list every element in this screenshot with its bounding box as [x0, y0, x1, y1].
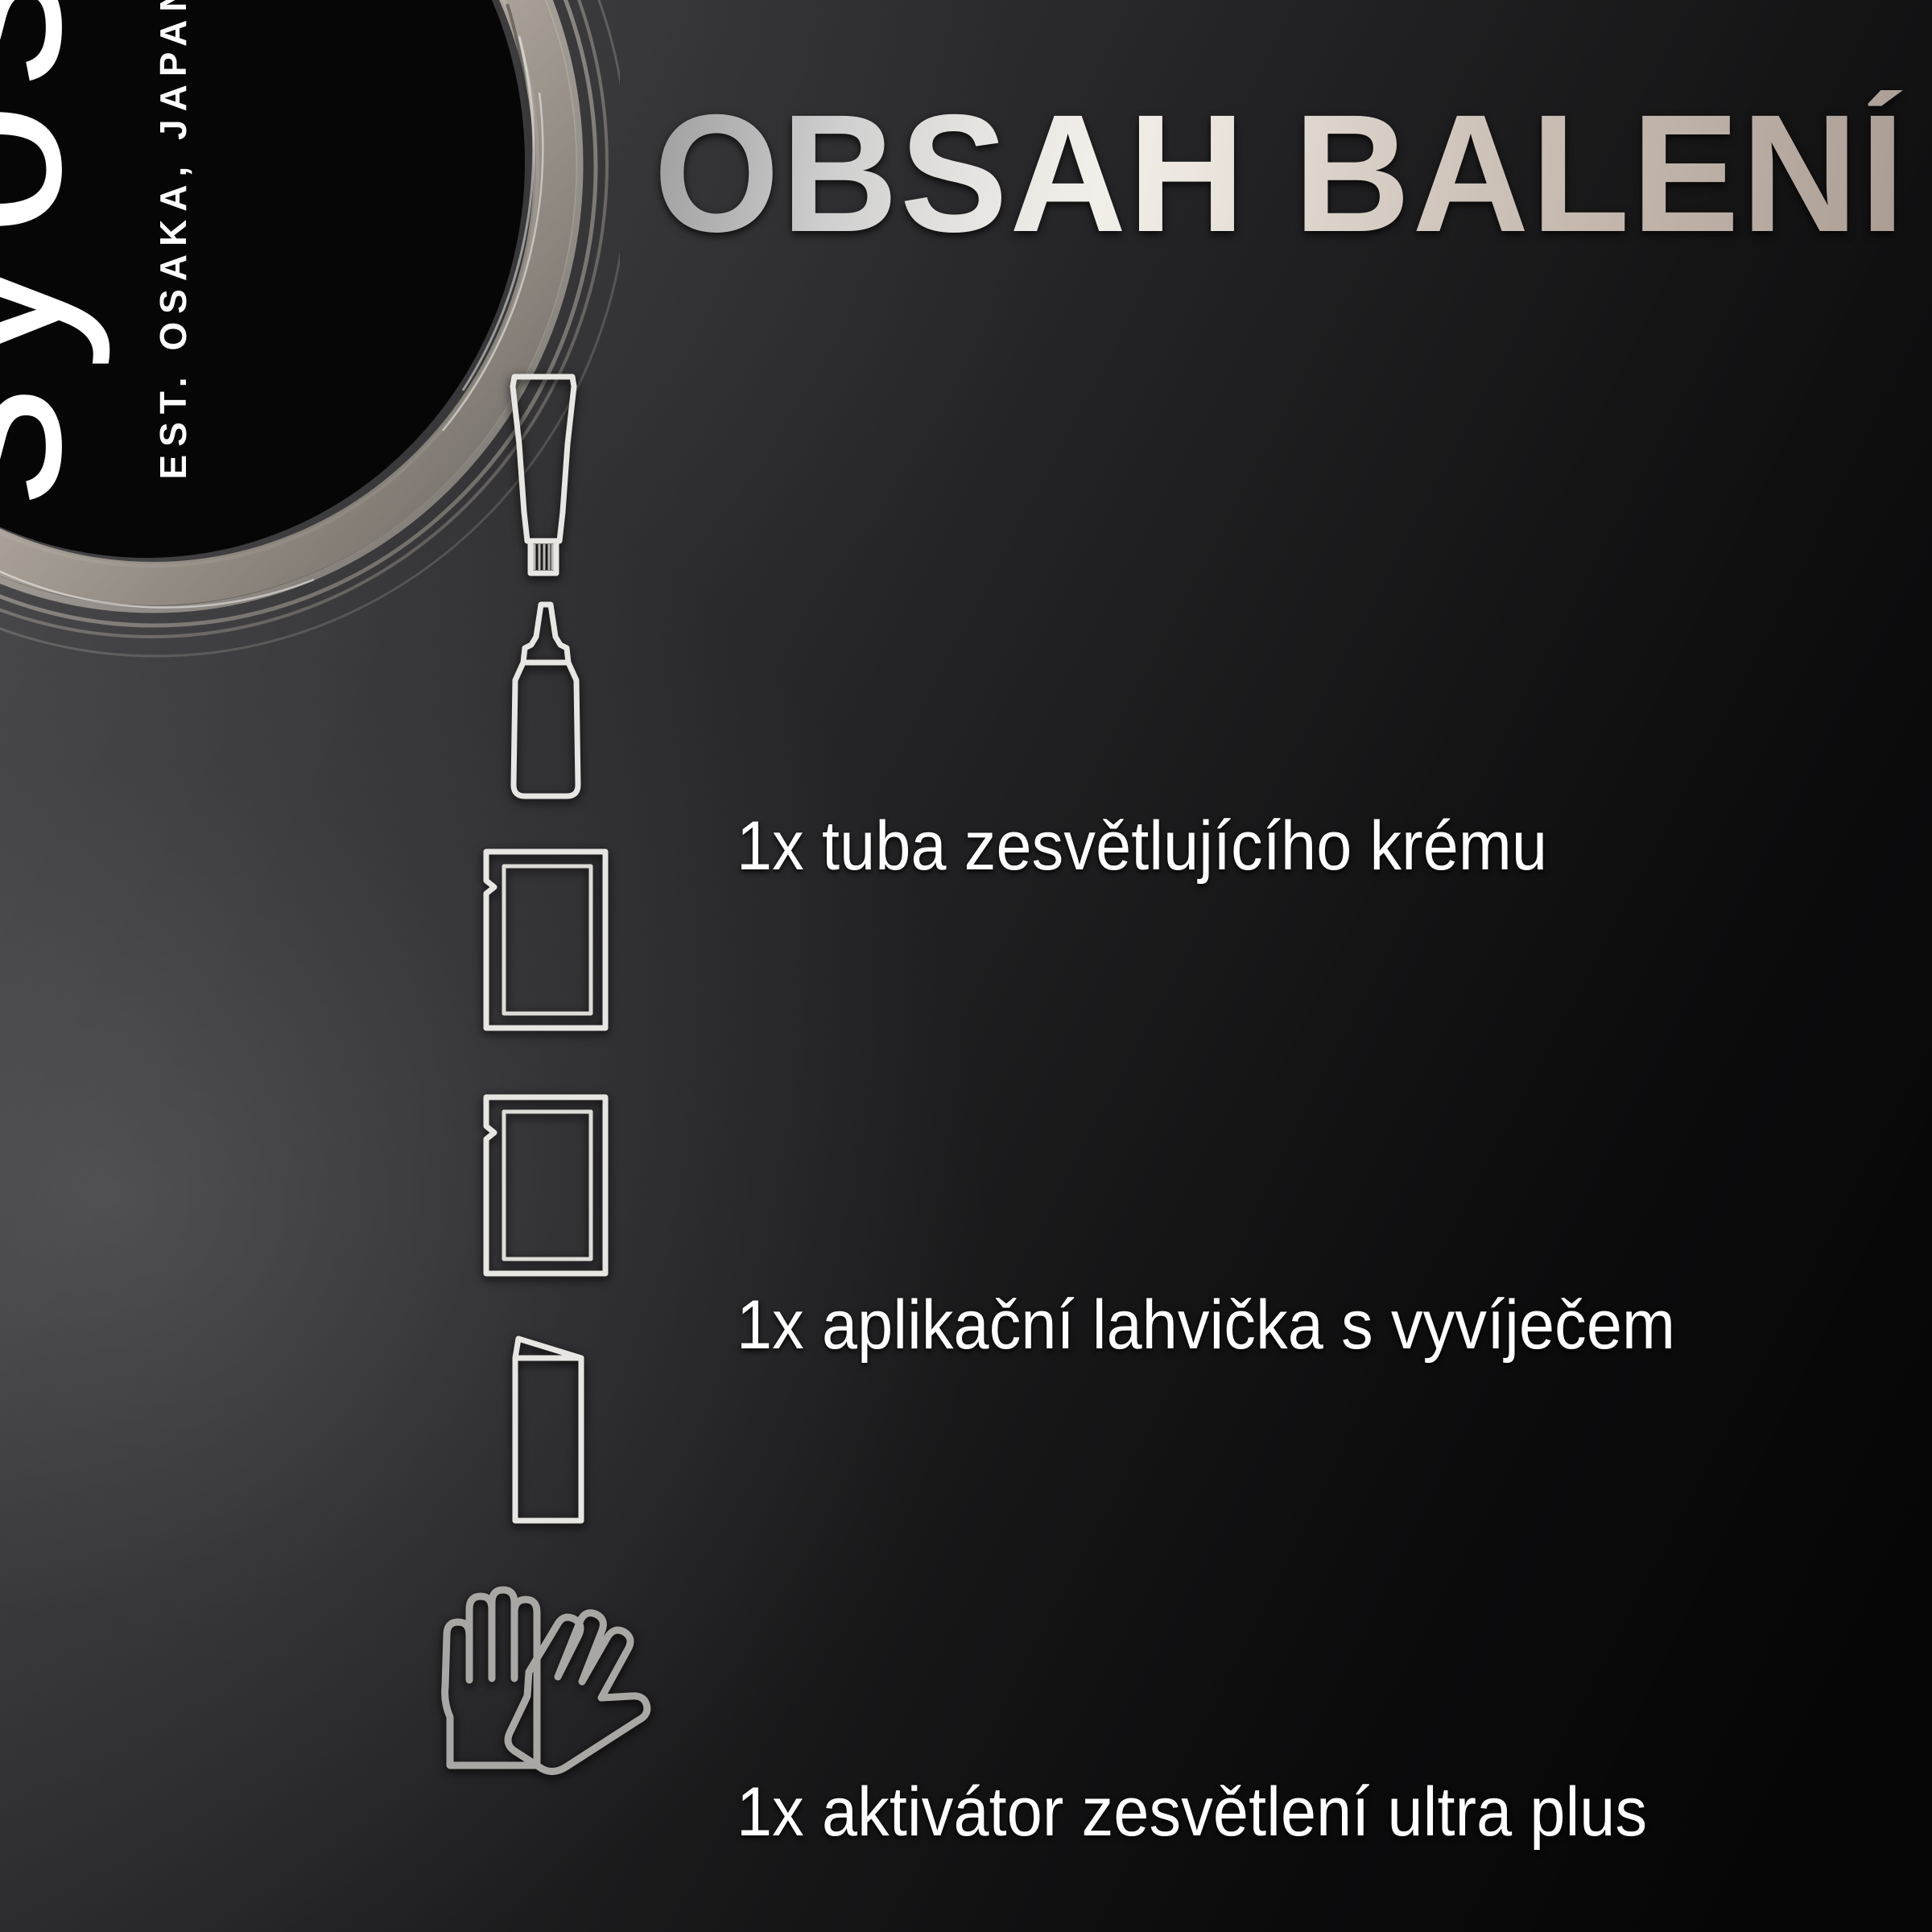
gloves-icon	[431, 1574, 656, 1799]
glove-left-icon	[445, 1590, 537, 1765]
package-contents-list: 1x tuba zesvětlujícího krému 1x aplikačn…	[0, 0, 1932, 1932]
list-item: 1x tuba zesvětlujícího krému	[0, 370, 1932, 580]
applicator-bottle-icon	[481, 600, 610, 801]
tube-icon	[479, 370, 608, 580]
list-item: 1x aktivátor zesvětlení ultra plus	[0, 845, 1932, 1034]
list-item: 1x aplikační lahvička s vyvíječem	[0, 600, 1932, 801]
list-item: 1x hloubkově pečující modrá maska	[0, 1091, 1932, 1280]
package-contents-poster: syoss EST. OSAKA, JAPAN 1977 OBSAH BALEN…	[0, 0, 1932, 1932]
list-item: 1x pár rukavic	[0, 1574, 1932, 1799]
sachet-icon	[473, 1091, 618, 1280]
sachet-icon	[473, 845, 618, 1034]
glove-right-icon	[508, 1613, 647, 1772]
leaflet-icon	[483, 1332, 612, 1525]
list-item: 1x návod k použití	[0, 1332, 1932, 1525]
